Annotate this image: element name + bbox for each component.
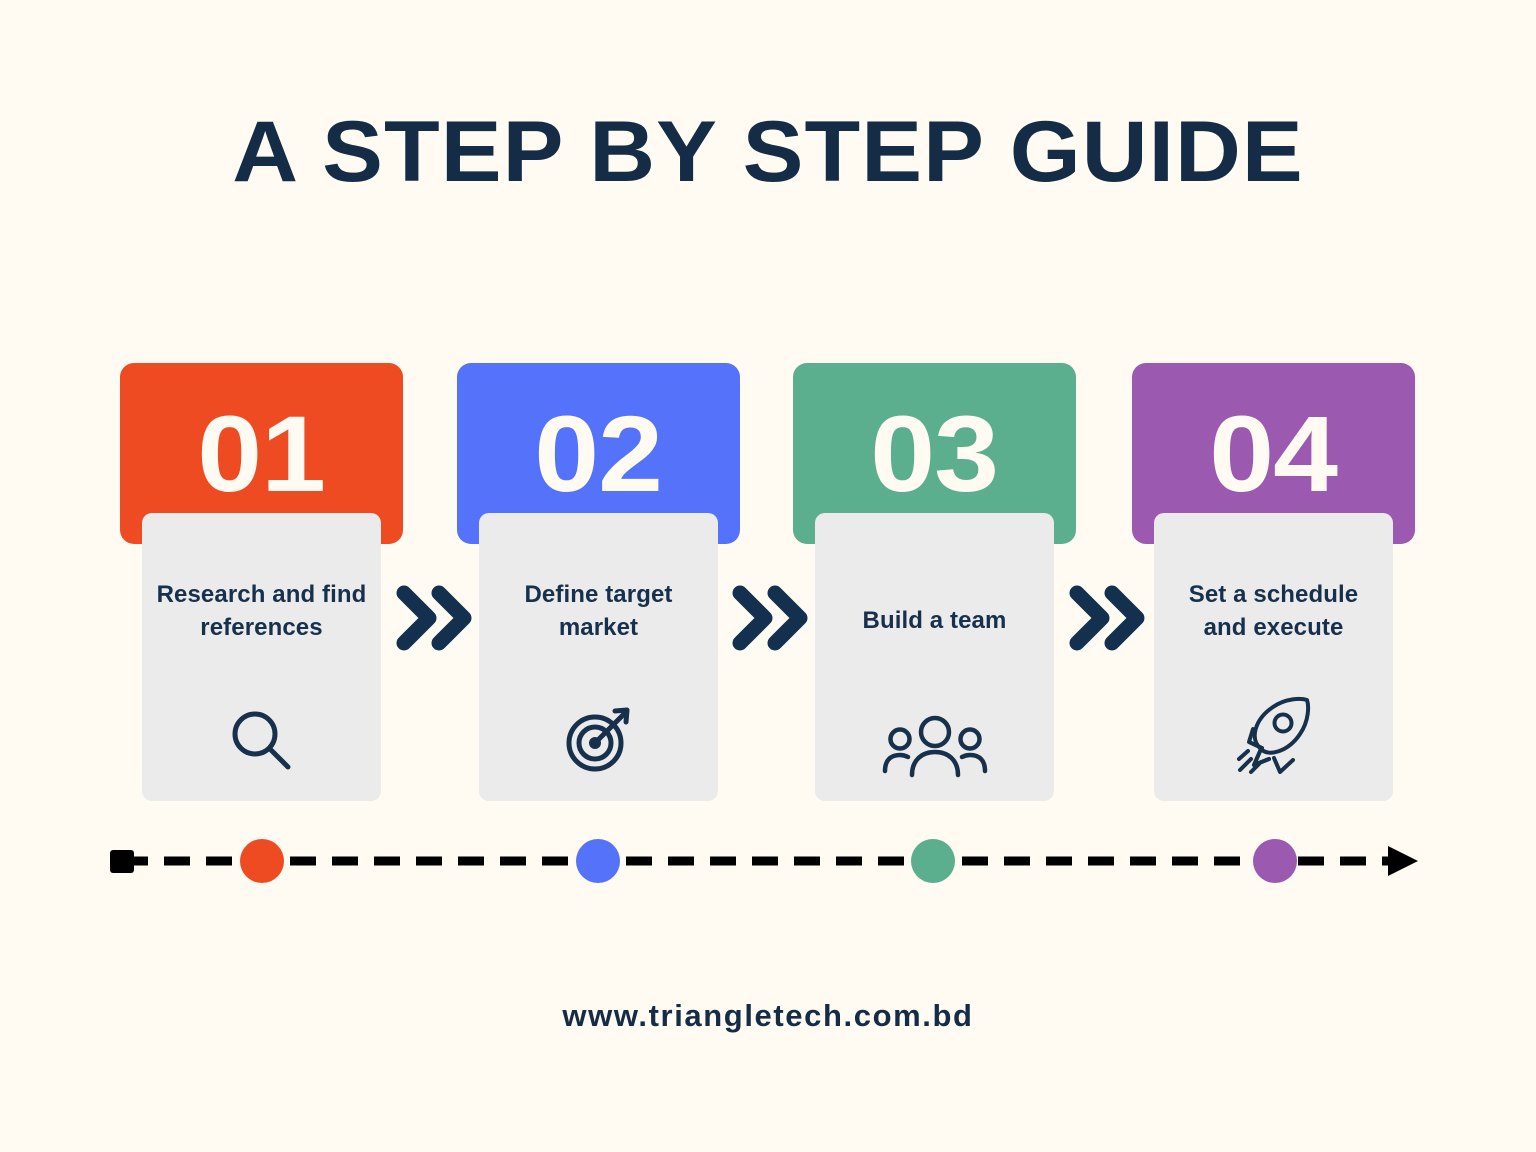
timeline-end-arrow-icon (1388, 846, 1418, 876)
people-group-icon (815, 689, 1054, 779)
separator-chevron-2 (729, 582, 811, 654)
step-card-2[interactable]: 02 Define target market (457, 363, 740, 803)
timeline-dot-4 (1253, 839, 1297, 883)
step-card-3[interactable]: 03 Build a team (793, 363, 1076, 803)
step-label-3: Build a team (815, 578, 1054, 637)
step-label-1: Research and find references (142, 578, 381, 644)
step-number-1: 01 (198, 400, 326, 508)
step-body-4: Set a schedule and execute (1154, 513, 1393, 801)
step-body-2: Define target market (479, 513, 718, 801)
footer-website-url[interactable]: www.triangletech.com.bd (0, 998, 1536, 1034)
step-label-4: Set a schedule and execute (1154, 578, 1393, 644)
timeline-dot-2 (576, 839, 620, 883)
step-number-3: 03 (871, 400, 999, 508)
step-body-1: Research and find references (142, 513, 381, 801)
step-label-2: Define target market (479, 578, 718, 644)
separator-chevron-3 (1066, 582, 1148, 654)
step-card-1[interactable]: 01 Research and find references (120, 363, 403, 803)
page-title: A STEP BY STEP GUIDE (0, 104, 1536, 200)
step-number-4: 04 (1210, 400, 1338, 508)
step-card-4[interactable]: 04 Set a schedule and execute (1132, 363, 1415, 803)
timeline-start-marker (110, 850, 134, 873)
step-number-2: 02 (535, 400, 663, 508)
timeline-dot-3 (911, 839, 955, 883)
target-arrow-icon (479, 689, 718, 779)
separator-chevron-1 (393, 582, 475, 654)
rocket-icon (1154, 689, 1393, 779)
timeline-dot-1 (240, 839, 284, 883)
timeline (110, 835, 1426, 887)
magnifier-icon (142, 689, 381, 779)
step-body-3: Build a team (815, 513, 1054, 801)
